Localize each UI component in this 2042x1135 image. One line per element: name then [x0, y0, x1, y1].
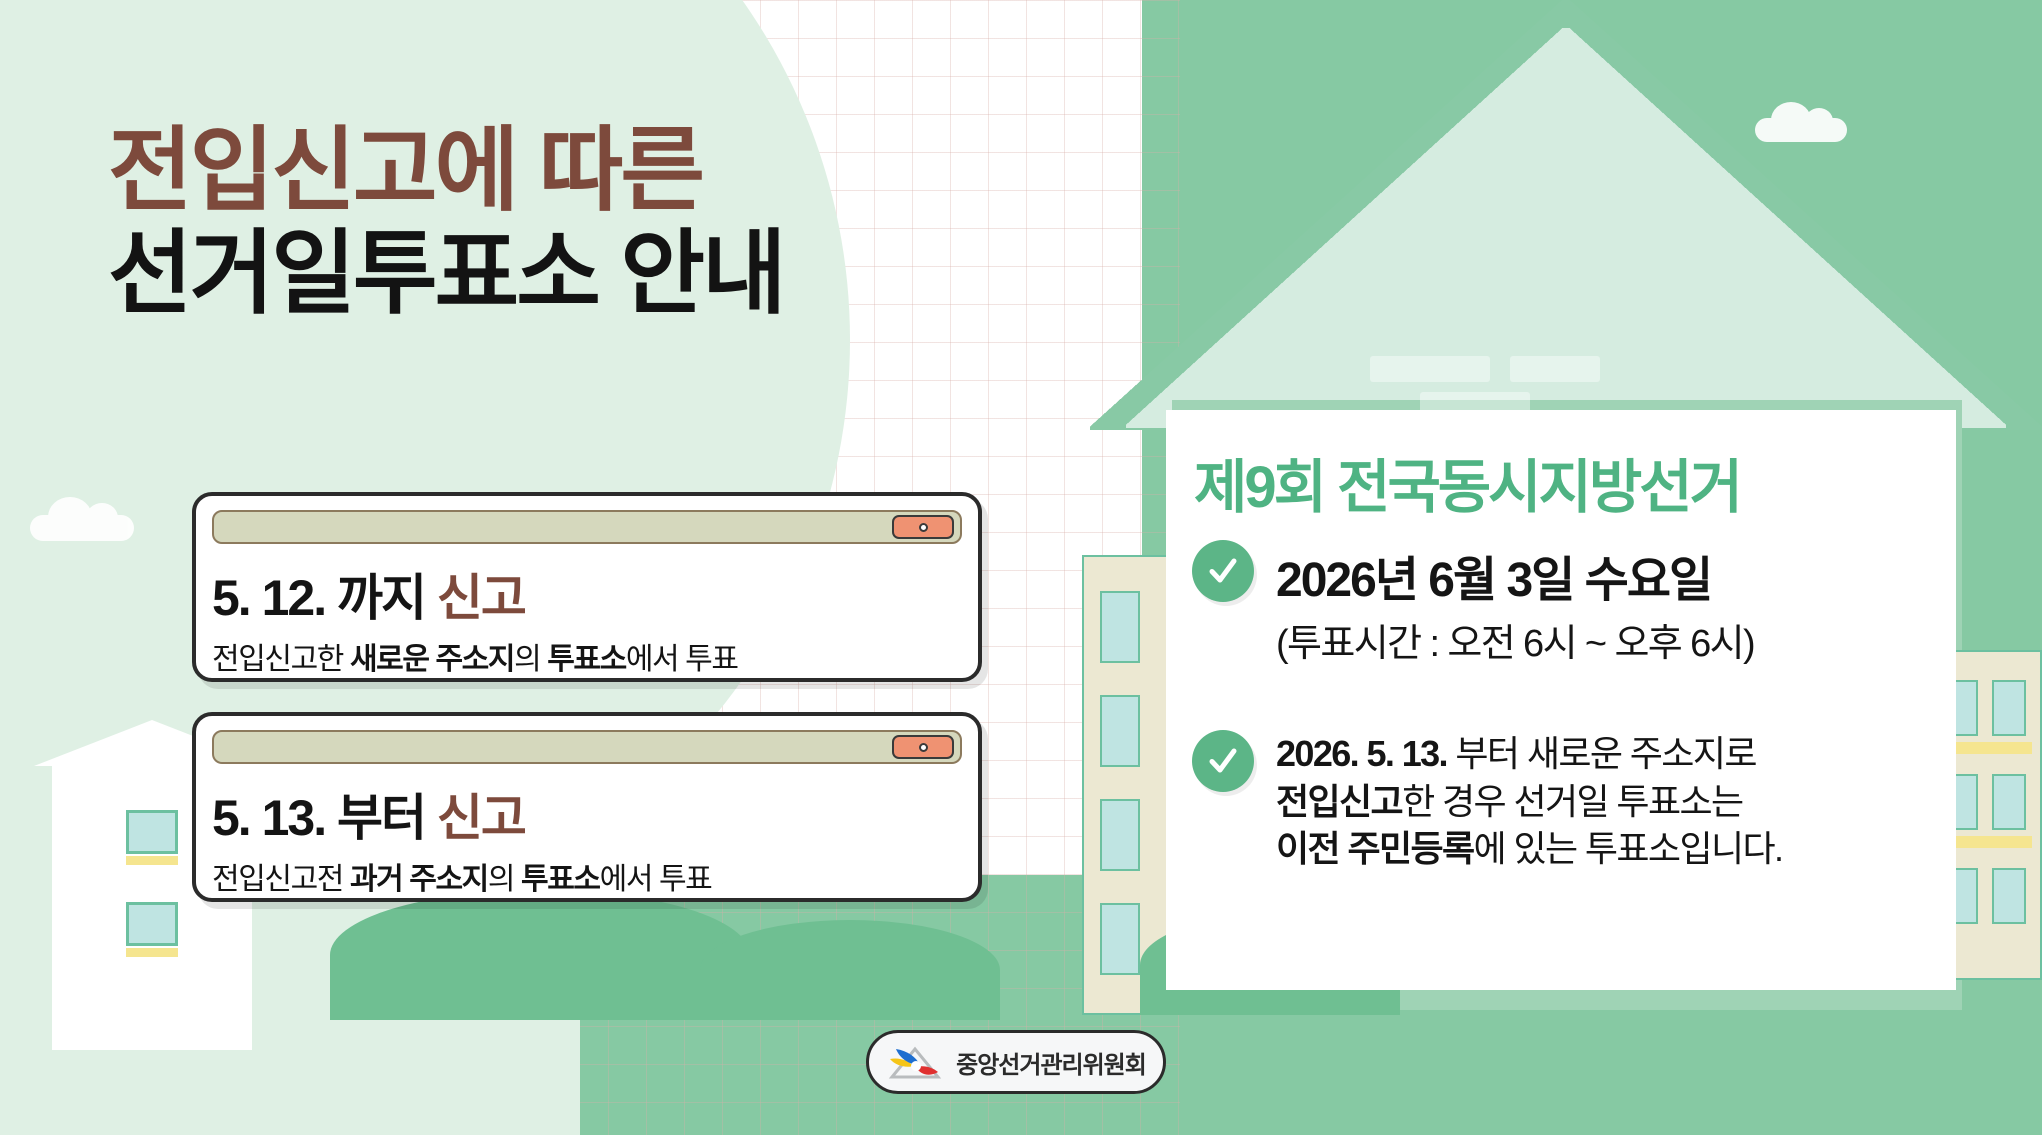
card-sub-bold-1: 새로운 주소지 — [350, 643, 514, 676]
check-circle-icon — [1192, 730, 1254, 792]
card-sub-suffix: 에서 투표 — [600, 863, 712, 896]
headline-line-2: 선거일투표소 안내 — [108, 223, 1068, 326]
panel-title: 제9회 전국동시지방선거 — [1194, 440, 1956, 524]
notice-line-1-rest: 부터 새로운 주소지로 — [1455, 733, 1755, 774]
election-info-panel: 제9회 전국동시지방선거 2026년 6월 3일 수요일 (투표시간 : 오전 … — [1166, 410, 1956, 990]
bush-shape — [330, 890, 750, 1020]
voting-hours-text: (투표시간 : 오전 6시 ~ 오후 6시) — [1276, 612, 1754, 667]
card-sub-mid: 의 — [514, 643, 547, 676]
card-titlebar — [212, 730, 962, 764]
cloud-icon — [30, 515, 134, 541]
card-subtitle: 전입신고전 과거 주소지의 투표소에서 투표 — [212, 854, 962, 898]
footer-label: 중앙선거관리위원회 — [956, 1045, 1146, 1080]
info-card-deadline-before: 5. 12. 까지 신고 전입신고한 새로운 주소지의 투표소에서 투표 — [192, 492, 982, 682]
page-title: 전입신고에 따른 선거일투표소 안내 — [108, 120, 1068, 326]
window-control-dot-icon — [919, 523, 928, 532]
card-subtitle: 전입신고한 새로운 주소지의 투표소에서 투표 — [212, 634, 962, 678]
notice-line-2-bold: 전입신고 — [1276, 781, 1402, 822]
window-control-dot-icon — [919, 743, 928, 752]
nec-bird-logo-icon — [886, 1041, 944, 1083]
card-title-date: 5. 13. 부터 — [212, 790, 437, 846]
card-sub-bold-1: 과거 주소지 — [350, 863, 488, 896]
card-sub-bold-2: 투표소 — [521, 863, 600, 896]
card-titlebar — [212, 510, 962, 544]
card-title: 5. 13. 부터 신고 — [212, 778, 962, 850]
notice-line-3: 이전 주민등록에 있는 투표소입니다. — [1276, 825, 1782, 873]
notice-line-3-bold: 이전 주민등록 — [1276, 828, 1474, 869]
notice-line-1-bold: 2026. 5. 13. — [1276, 733, 1455, 774]
card-sub-prefix: 전입신고한 — [212, 643, 350, 676]
bullet-moving-notice: 2026. 5. 13. 부터 새로운 주소지로 전입신고한 경우 선거일 투표… — [1192, 730, 1782, 873]
poster-canvas: 전입신고에 따른 선거일투표소 안내 5. 12. 까지 신고 전입신고한 새로… — [0, 0, 2042, 1135]
notice-line-1: 2026. 5. 13. 부터 새로운 주소지로 — [1276, 730, 1782, 778]
check-circle-icon — [1192, 540, 1254, 602]
card-sub-suffix: 에서 투표 — [626, 643, 738, 676]
bush-shape — [700, 920, 1000, 1020]
bullet-election-date: 2026년 6월 3일 수요일 (투표시간 : 오전 6시 ~ 오후 6시) — [1192, 540, 1754, 667]
notice-line-2-rest: 한 경우 선거일 투표소는 — [1402, 781, 1742, 822]
notice-line-3-rest: 에 있는 투표소입니다. — [1474, 828, 1783, 869]
card-title: 5. 12. 까지 신고 — [212, 558, 962, 630]
info-card-deadline-after: 5. 13. 부터 신고 전입신고전 과거 주소지의 투표소에서 투표 — [192, 712, 982, 902]
card-title-date: 5. 12. 까지 — [212, 570, 437, 626]
card-title-accent: 신고 — [437, 570, 525, 626]
headline-line-1: 전입신고에 따른 — [108, 120, 1068, 223]
notice-line-2: 전입신고한 경우 선거일 투표소는 — [1276, 778, 1782, 826]
footer-logo-chip: 중앙선거관리위원회 — [866, 1030, 1166, 1094]
card-sub-mid: 의 — [488, 863, 521, 896]
card-sub-bold-2: 투표소 — [547, 643, 626, 676]
card-sub-prefix: 전입신고전 — [212, 863, 350, 896]
election-date-text: 2026년 6월 3일 수요일 — [1276, 540, 1754, 610]
card-title-accent: 신고 — [437, 790, 525, 846]
window-control-button[interactable] — [892, 735, 954, 759]
window-control-button[interactable] — [892, 515, 954, 539]
